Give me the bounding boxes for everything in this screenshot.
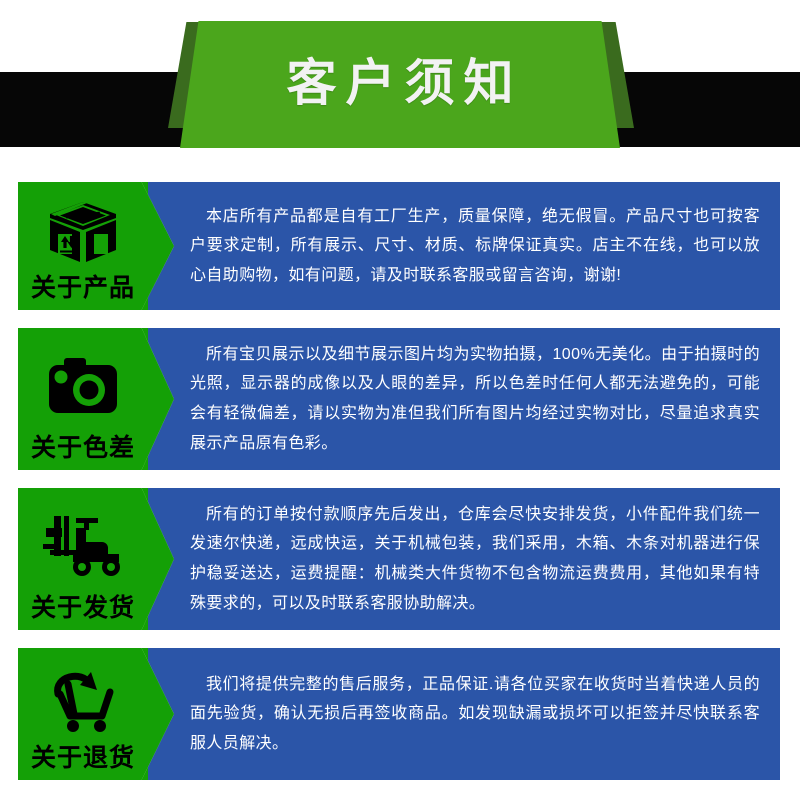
chevron-product	[148, 182, 174, 310]
page-banner: 客户须知	[0, 0, 800, 160]
panel-shipping: 所有的订单按付款顺序先后发出，仓库会尽快安排发货，小件配件我们统一发速尔快递，远…	[148, 488, 780, 630]
package-box-icon	[18, 190, 148, 276]
chevron-shipping	[148, 488, 174, 630]
panel-text-shipping: 所有的订单按付款顺序先后发出，仓库会尽快安排发货，小件配件我们统一发速尔快递，远…	[190, 500, 760, 618]
panel-text-return: 我们将提供完整的售后服务，正品保证.请各位买家在收货时当着快递人员的面先验货，确…	[190, 670, 760, 759]
return-cart-icon	[18, 656, 148, 746]
chevron-return	[148, 648, 174, 780]
chevron-color	[148, 328, 174, 470]
notice-row-shipping: 关于发货 所有的订单按付款顺序先后发出，仓库会尽快安排发货，小件配件我们统一发速…	[0, 488, 800, 630]
banner-ribbon: 客户须知	[180, 21, 620, 148]
panel-text-color: 所有宝贝展示以及细节展示图片均为实物拍摄，100%无美化。由于拍摄时的光照，显示…	[190, 340, 760, 458]
notice-row-color: 关于色差 所有宝贝展示以及细节展示图片均为实物拍摄，100%无美化。由于拍摄时的…	[0, 328, 800, 470]
page-title: 客户须知	[278, 58, 523, 112]
forklift-icon	[18, 496, 148, 596]
badge-label-return: 关于退货	[31, 746, 135, 780]
notice-row-product: 关于产品 本店所有产品都是自有工厂生产，质量保障，绝无假冒。产品尺寸也可按客户要…	[0, 182, 800, 310]
panel-color: 所有宝贝展示以及细节展示图片均为实物拍摄，100%无美化。由于拍摄时的光照，显示…	[148, 328, 780, 470]
badge-product[interactable]: 关于产品	[18, 182, 148, 310]
panel-return: 我们将提供完整的售后服务，正品保证.请各位买家在收货时当着快递人员的面先验货，确…	[148, 648, 780, 780]
badge-shipping[interactable]: 关于发货	[18, 488, 148, 630]
badge-label-shipping: 关于发货	[31, 596, 135, 630]
camera-icon	[18, 336, 148, 436]
badge-label-color: 关于色差	[31, 436, 135, 470]
badge-return[interactable]: 关于退货	[18, 648, 148, 780]
badge-label-product: 关于产品	[31, 276, 135, 310]
notice-sections: 关于产品 本店所有产品都是自有工厂生产，质量保障，绝无假冒。产品尺寸也可按客户要…	[0, 182, 800, 780]
badge-color[interactable]: 关于色差	[18, 328, 148, 470]
notice-row-return: 关于退货 我们将提供完整的售后服务，正品保证.请各位买家在收货时当着快递人员的面…	[0, 648, 800, 780]
panel-product: 本店所有产品都是自有工厂生产，质量保障，绝无假冒。产品尺寸也可按客户要求定制，所…	[148, 182, 780, 310]
panel-text-product: 本店所有产品都是自有工厂生产，质量保障，绝无假冒。产品尺寸也可按客户要求定制，所…	[190, 202, 760, 291]
